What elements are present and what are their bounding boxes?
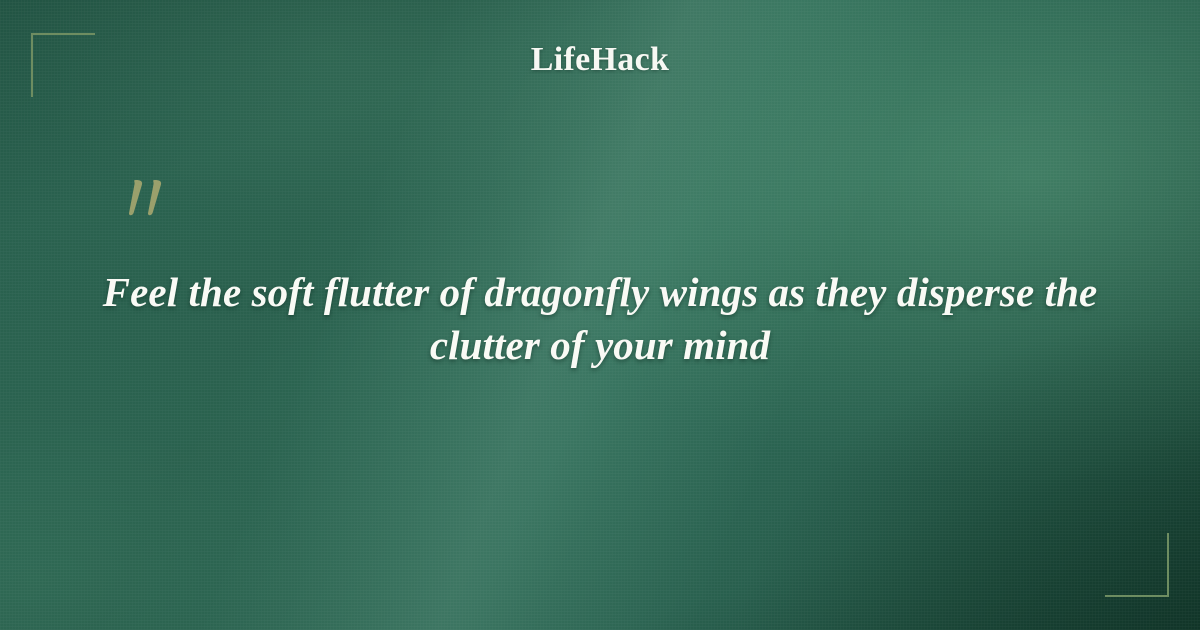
corner-bracket-bottom-right-icon	[1105, 533, 1169, 597]
quote-card: LifeHack Feel the soft flutter of dragon…	[0, 0, 1200, 630]
brand-header: LifeHack	[0, 0, 1200, 120]
brand-logo-text: LifeHack	[531, 43, 669, 77]
quote-text: Feel the soft flutter of dragonfly wings…	[100, 266, 1100, 372]
double-quote-icon	[128, 178, 188, 236]
